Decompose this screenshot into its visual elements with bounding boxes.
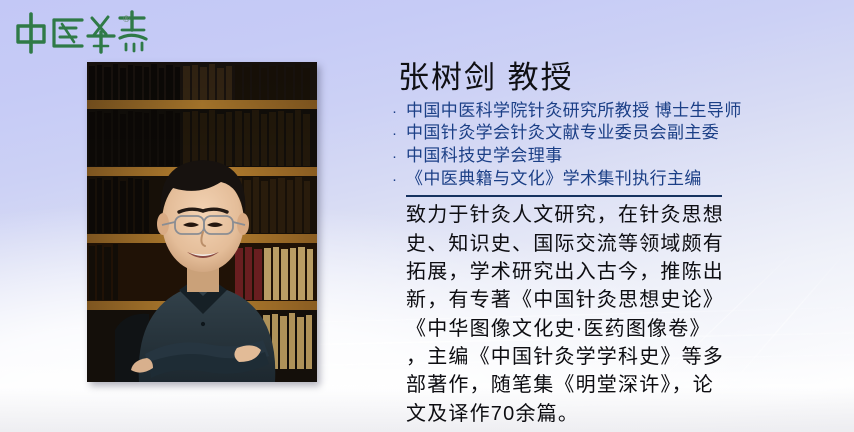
- credential-text: 《中医典籍与文化》学术集刊执行主编: [406, 168, 702, 191]
- list-item: · 《中医典籍与文化》学术集刊执行主编: [392, 168, 844, 191]
- journal-logo: ®: [10, 6, 160, 58]
- biography-line: 部著作，随笔集《明堂深许》，论: [406, 371, 778, 399]
- credential-text: 中国针灸学会针灸文献专业委员会副主委: [406, 122, 719, 145]
- speaker-portrait-photo: [87, 62, 317, 382]
- biography-line: 致力于针灸人文研究，在针灸思想: [406, 201, 778, 229]
- biography-line: ，主编《中国针灸学学科史》等多: [406, 343, 778, 371]
- list-item: · 中国中医科学院针灸研究所教授 博士生导师: [392, 100, 844, 123]
- biography-line: 拓展，学术研究出入古今，推陈出: [406, 258, 778, 286]
- presentation-slide: ®: [0, 0, 854, 432]
- section-divider: [406, 195, 722, 197]
- bullet-icon: ·: [392, 126, 406, 141]
- bullet-icon: ·: [392, 149, 406, 164]
- bullet-icon: ·: [392, 172, 406, 187]
- bullet-icon: ·: [392, 104, 406, 119]
- credentials-list: · 中国中医科学院针灸研究所教授 博士生导师 · 中国针灸学会针灸文献专业委员会…: [392, 100, 844, 190]
- list-item: · 中国针灸学会针灸文献专业委员会副主委: [392, 122, 844, 145]
- biography-line: 新，有专著《中国针灸思想史论》: [406, 286, 778, 314]
- biography-line: 《中华图像文化史·医药图像卷》: [406, 315, 778, 343]
- speaker-info-panel: 张树剑 教授 · 中国中医科学院针灸研究所教授 博士生导师 · 中国针灸学会针灸…: [392, 58, 844, 428]
- page-title: 张树剑 教授: [392, 58, 844, 98]
- biography-line: 史、知识史、国际交流等领域颇有: [406, 230, 778, 258]
- list-item: · 中国科技史学会理事: [392, 145, 844, 168]
- credential-text: 中国科技史学会理事: [406, 145, 563, 168]
- biography-paragraph: 致力于针灸人文研究，在针灸思想 史、知识史、国际交流等领域颇有 拓展，学术研究出…: [392, 201, 778, 428]
- biography-line: 文及译作70余篇。: [406, 400, 778, 428]
- credential-text: 中国中医科学院针灸研究所教授 博士生导师: [406, 100, 742, 123]
- registered-mark-icon: ®: [123, 15, 130, 24]
